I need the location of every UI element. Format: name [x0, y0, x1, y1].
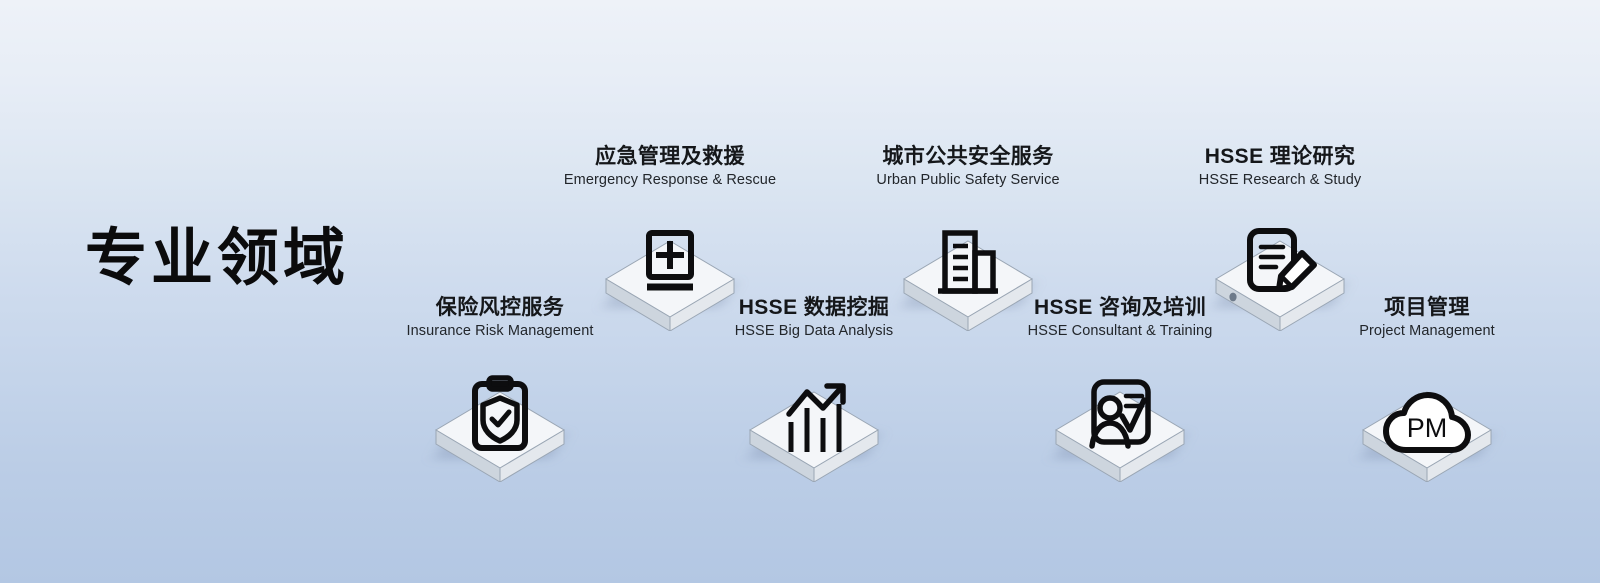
service-badge [425, 350, 575, 482]
service-title-en: HSSE Consultant & Training [990, 323, 1250, 340]
service-title-cn: 项目管理 [1297, 296, 1557, 319]
pedestal-cube [739, 386, 889, 482]
professional-domains-banner: 专业领域 应急管理及救援 Emergency Response & Rescue [0, 0, 1600, 583]
service-title-en: Insurance Risk Management [370, 323, 630, 340]
service-title-cn: 保险风控服务 [370, 296, 630, 319]
pedestal-cube [1045, 386, 1195, 482]
service-title-cn: HSSE 数据挖掘 [684, 296, 944, 319]
service-badge [739, 350, 889, 482]
service-title-en: HSSE Big Data Analysis [684, 323, 944, 340]
service-title-en: HSSE Research & Study [1150, 172, 1410, 189]
service-title-cn: 城市公共安全服务 [838, 145, 1098, 168]
service-badge: PM [1352, 350, 1502, 482]
service-title-cn: HSSE 理论研究 [1150, 145, 1410, 168]
service-item-hsse-consultant[interactable]: HSSE 咨询及培训 HSSE Consultant & Training [990, 296, 1250, 482]
service-item-hsse-big-data[interactable]: HSSE 数据挖掘 HSSE Big Data Analysis [684, 296, 944, 482]
service-item-insurance-risk[interactable]: 保险风控服务 Insurance Risk Management [370, 296, 630, 482]
service-title-en: Project Management [1297, 323, 1557, 340]
pedestal-cube [1352, 386, 1502, 482]
page-title: 专业领域 [85, 228, 349, 290]
service-title-en: Urban Public Safety Service [838, 172, 1098, 189]
pedestal-cube [425, 386, 575, 482]
service-title-en: Emergency Response & Rescue [540, 172, 800, 189]
service-title-cn: 应急管理及救援 [540, 145, 800, 168]
service-item-project-management[interactable]: 项目管理 Project Management PM [1297, 296, 1557, 482]
service-title-cn: HSSE 咨询及培训 [990, 296, 1250, 319]
service-badge [1045, 350, 1195, 482]
